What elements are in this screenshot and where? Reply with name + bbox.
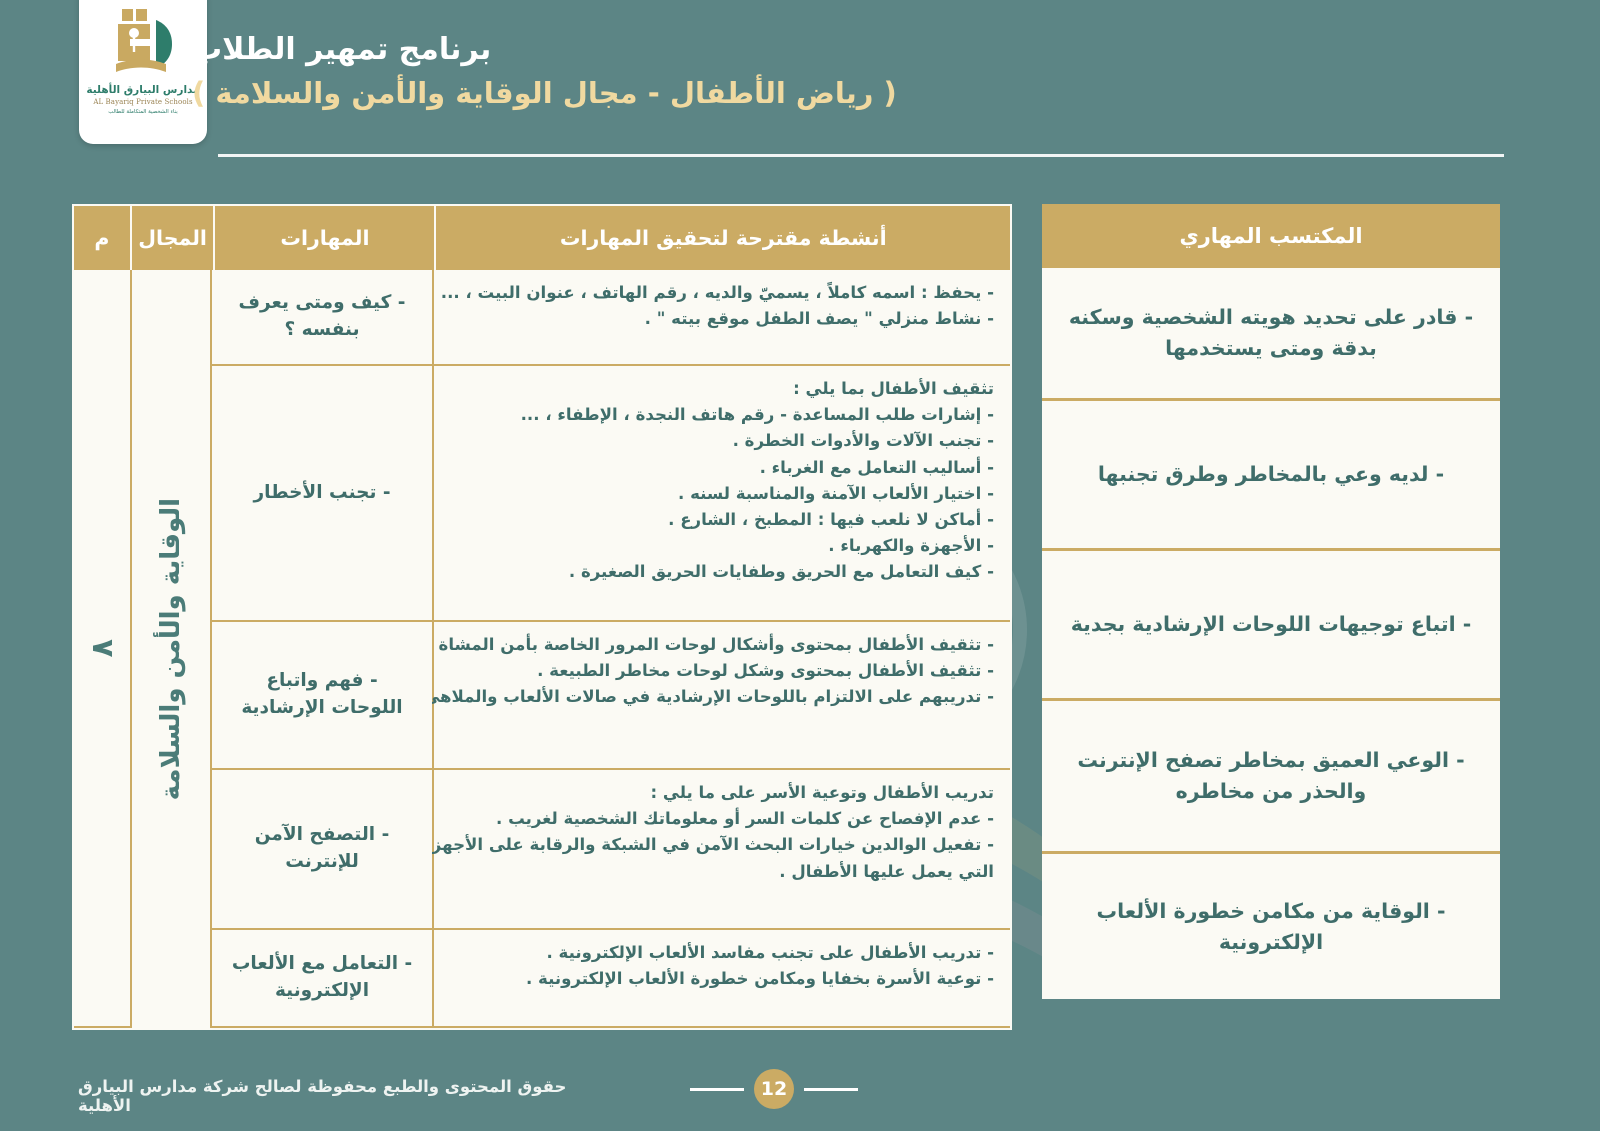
- activity-line: - نشاط منزلي " يصف الطفل موقع بيته " .: [450, 306, 994, 332]
- page-number: 12: [754, 1069, 794, 1109]
- skills-table: أنشطة مقترحة لتحقيق المهارات المهارات ال…: [72, 204, 1012, 1030]
- activity-line: - أساليب التعامل مع الغرباء .: [450, 455, 994, 481]
- domain-number: ٨: [85, 639, 120, 657]
- activity-line: - كيف التعامل مع الحريق وطفايات الحريق ا…: [450, 559, 994, 585]
- skill-cell: - كيف ومتى يعرف بنفسه ؟: [210, 270, 432, 366]
- page-header: مدارس البيارق الأهلية AL Bayariq Private…: [0, 0, 1600, 182]
- pager-rule-right: [690, 1088, 744, 1091]
- activity-line: - تثقيف الأطفال بمحتوى وأشكال لوحات المر…: [450, 632, 994, 658]
- title-block: برنامج تمهير الطلاب ( رياض الأطفال - مجا…: [96, 32, 1600, 113]
- activities-cell: تدريب الأطفال وتوعية الأسر على ما يلي :-…: [432, 770, 1010, 930]
- activity-line: - إشارات طلب المساعدة - رقم هاتف النجدة …: [450, 402, 994, 428]
- acquired-skill-rows: - قادر على تحديد هويته الشخصية وسكنه بدق…: [1042, 268, 1500, 999]
- skill-cell: - التصفح الآمن للإنترنت: [210, 770, 432, 930]
- activity-line: تدريب الأطفال وتوعية الأسر على ما يلي :: [450, 780, 994, 806]
- skill-cell: - فهم واتباع اللوحات الإرشادية: [210, 622, 432, 770]
- acquired-skill-cell: - قادر على تحديد هويته الشخصية وسكنه بدق…: [1042, 268, 1500, 401]
- skills-column: - كيف ومتى يعرف بنفسه ؟- تجنب الأخطار- ف…: [210, 270, 432, 1028]
- skill-cell: - التعامل مع الألعاب الإلكترونية: [210, 930, 432, 1028]
- activity-line: - تفعيل الوالدين خيارات البحث الآمن في ا…: [450, 832, 994, 858]
- activities-cell: - تثقيف الأطفال بمحتوى وأشكال لوحات المر…: [432, 622, 1010, 770]
- domain-label: الوقاية والأمن والسلامة: [156, 498, 186, 800]
- acquired-skill-cell: - الوعي العميق بمخاطر تصفح الإنترنت والح…: [1042, 701, 1500, 854]
- page-title: برنامج تمهير الطلاب: [192, 32, 1600, 68]
- header-divider: [218, 154, 1504, 157]
- activity-line: - الأجهزة والكهرباء .: [450, 533, 994, 559]
- activity-line: - أماكن لا نلعب فيها : المطبخ ، الشارع .: [450, 507, 994, 533]
- activity-line: تثقيف الأطفال بما يلي :: [450, 376, 994, 402]
- page-subtitle: ( رياض الأطفال - مجال الوقاية والأمن وال…: [192, 74, 1600, 113]
- table-header-row: أنشطة مقترحة لتحقيق المهارات المهارات ال…: [74, 206, 1010, 270]
- copyright-text: حقوق المحتوى والطبع محفوظة لصالح شركة مد…: [78, 1077, 600, 1115]
- activity-line: - تدريبهم على الالتزام باللوحات الإرشادي…: [450, 684, 994, 710]
- activities-column: - يحفظ : اسمه كاملاً ، يسميّ والديه ، رق…: [432, 270, 1010, 1028]
- activities-cell: تثقيف الأطفال بما يلي :- إشارات طلب المس…: [432, 366, 1010, 622]
- activity-line: التي يعمل عليها الأطفال .: [450, 859, 994, 885]
- acquired-skill-cell: - لديه وعي بالمخاطر وطرق تجنبها: [1042, 401, 1500, 551]
- content-area: المكتسب المهاري - قادر على تحديد هويته ا…: [0, 182, 1600, 1030]
- page-footer: حقوق المحتوى والطبع محفوظة لصالح شركة مد…: [0, 1061, 1600, 1117]
- acquired-skill-cell: - اتباع توجيهات اللوحات الإرشادية بجدية: [1042, 551, 1500, 701]
- activity-line: - تثقيف الأطفال بمحتوى وشكل لوحات مخاطر …: [450, 658, 994, 684]
- activities-cell: - يحفظ : اسمه كاملاً ، يسميّ والديه ، رق…: [432, 270, 1010, 366]
- domain-cell: الوقاية والأمن والسلامة: [130, 270, 210, 1028]
- column-header-acquired-skill: المكتسب المهاري: [1042, 204, 1500, 268]
- acquired-skill-table: المكتسب المهاري - قادر على تحديد هويته ا…: [1042, 204, 1500, 999]
- column-header-domain: المجال: [130, 206, 214, 270]
- skill-cell: - تجنب الأخطار: [210, 366, 432, 622]
- page-indicator: 12: [690, 1069, 858, 1109]
- table-body: - يحفظ : اسمه كاملاً ، يسميّ والديه ، رق…: [74, 270, 1010, 1028]
- column-header-skills: المهارات: [213, 206, 434, 270]
- acquired-skill-cell: - الوقاية من مكامن خطورة الألعاب الإلكتر…: [1042, 854, 1500, 999]
- activities-cell: - تدريب الأطفال على تجنب مفاسد الألعاب ا…: [432, 930, 1010, 1028]
- row-number-cell: ٨: [74, 270, 130, 1028]
- column-header-activities: أنشطة مقترحة لتحقيق المهارات: [434, 206, 1010, 270]
- activity-line: - يحفظ : اسمه كاملاً ، يسميّ والديه ، رق…: [450, 280, 994, 306]
- activity-line: - تدريب الأطفال على تجنب مفاسد الألعاب ا…: [450, 940, 994, 966]
- column-header-number: م: [74, 206, 130, 270]
- pager-rule-left: [804, 1088, 858, 1091]
- activity-line: - اختيار الألعاب الآمنة والمناسبة لسنه .: [450, 481, 994, 507]
- activity-line: - توعية الأسرة بخفايا ومكامن خطورة الألع…: [450, 966, 994, 992]
- activity-line: - تجنب الآلات والأدوات الخطرة .: [450, 428, 994, 454]
- activity-line: - عدم الإفصاح عن كلمات السر أو معلوماتك …: [450, 806, 994, 832]
